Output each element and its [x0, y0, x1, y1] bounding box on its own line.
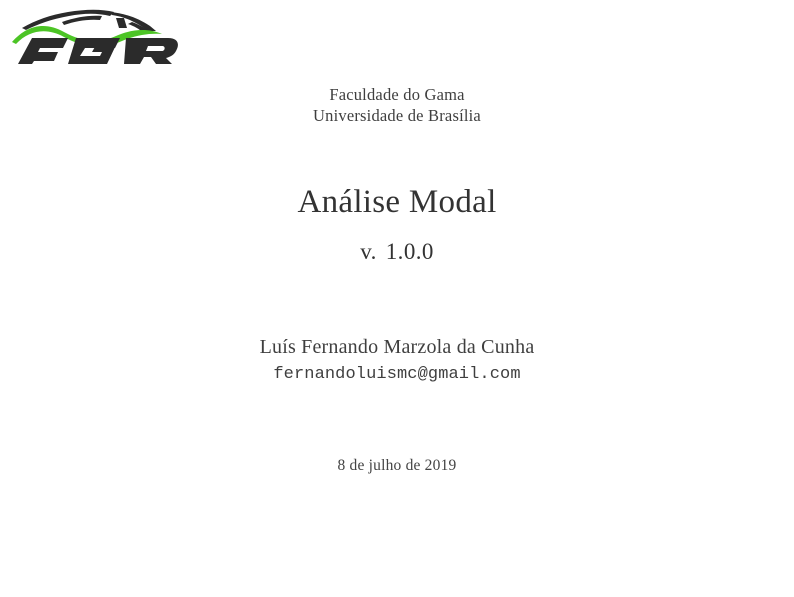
- car-window-shape: [62, 16, 102, 25]
- car-rollbar-shape: [116, 18, 127, 28]
- document-version: v.1.0.0: [0, 238, 794, 266]
- document-title: Análise Modal: [0, 183, 794, 221]
- version-prefix: v.: [360, 239, 377, 264]
- document-date: 8 de julho de 2019: [0, 455, 794, 476]
- author-name: Luís Fernando Marzola da Cunha: [0, 334, 794, 360]
- institution-line-university: Universidade de Brasília: [0, 105, 794, 126]
- car-rear-shape: [110, 12, 156, 31]
- version-number: 1.0.0: [386, 239, 434, 264]
- fgr-logo: [6, 2, 194, 68]
- institution-block: Faculdade do Gama Universidade de Brasíl…: [0, 84, 794, 126]
- author-email: fernandoluismc@gmail.com: [0, 363, 794, 387]
- fgr-wordmark-shape: [18, 38, 178, 64]
- institution-line-faculty: Faculdade do Gama: [0, 84, 794, 105]
